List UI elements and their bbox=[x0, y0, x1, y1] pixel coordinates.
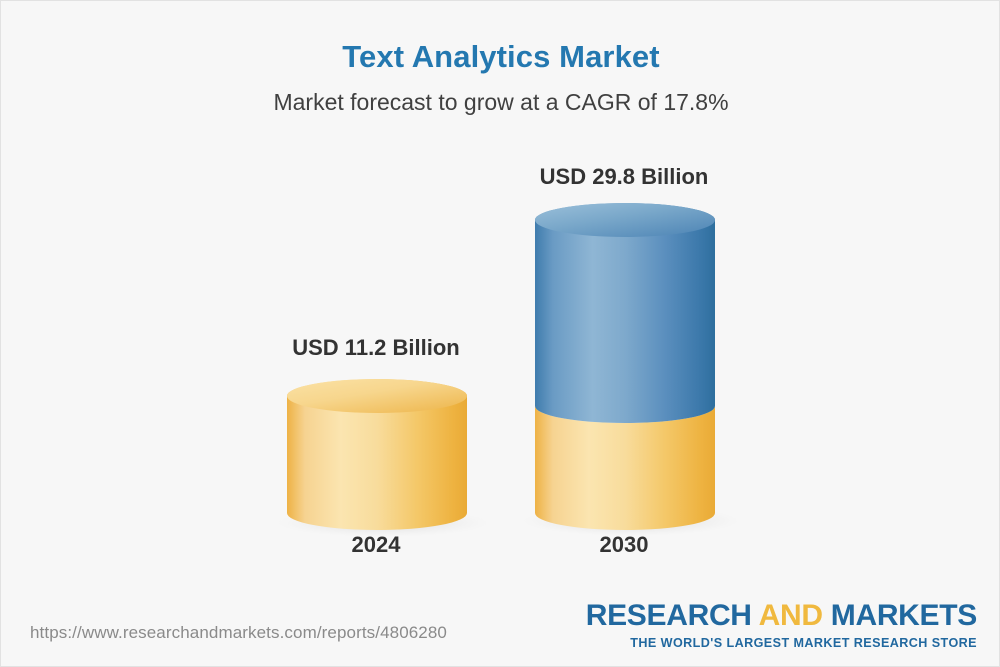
chart-title: Text Analytics Market bbox=[1, 39, 1000, 75]
category-label-2030: 2030 bbox=[524, 532, 724, 558]
category-label-2024: 2024 bbox=[276, 532, 476, 558]
chart-subtitle: Market forecast to grow at a CAGR of 17.… bbox=[1, 89, 1000, 116]
bar-lower-gold-2030 bbox=[535, 406, 715, 530]
value-label-2024: USD 11.2 Billion bbox=[216, 335, 536, 361]
brand-tagline: THE WORLD'S LARGEST MARKET RESEARCH STOR… bbox=[586, 636, 977, 650]
brand-word-and: AND bbox=[759, 599, 823, 632]
bar-top-ellipse-2030 bbox=[535, 203, 715, 237]
brand-word-markets: MARKETS bbox=[831, 599, 977, 632]
research-and-markets-logo: RESEARCH AND MARKETS THE WORLD'S LARGEST… bbox=[586, 601, 977, 650]
value-label-2030: USD 29.8 Billion bbox=[464, 164, 784, 190]
report-url[interactable]: https://www.researchandmarkets.com/repor… bbox=[30, 623, 447, 643]
bar-cylinder-2024 bbox=[287, 379, 467, 519]
bar-top-ellipse-2024 bbox=[287, 379, 467, 413]
brand-wordmark: RESEARCH AND MARKETS bbox=[586, 601, 977, 631]
brand-word-research: RESEARCH bbox=[586, 599, 752, 632]
chart-canvas: Text Analytics Market Market forecast to… bbox=[0, 0, 1000, 667]
bar-cylinder-2030 bbox=[535, 203, 715, 519]
